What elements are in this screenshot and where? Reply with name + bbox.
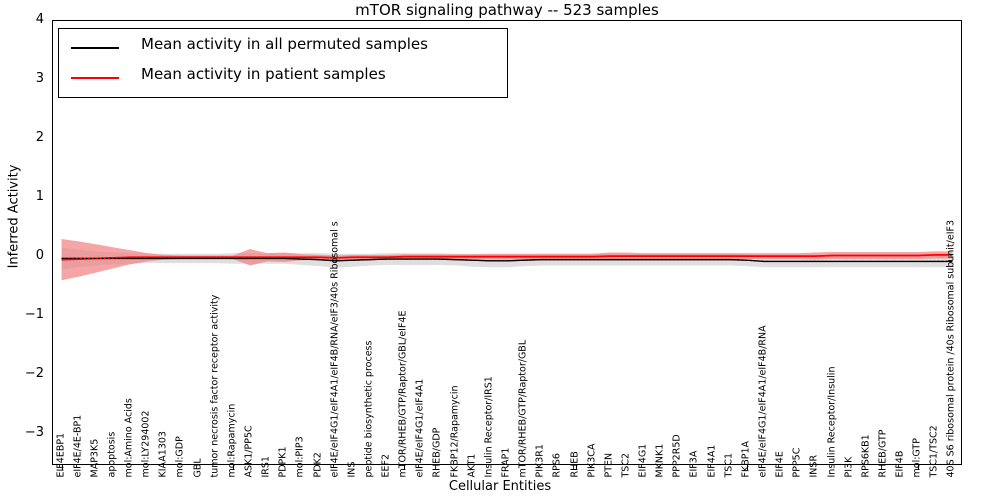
x-tick-label: PPP2R5D xyxy=(673,434,683,477)
x-tick-label: eIF4E/eIF4G1/eIF4A1/eIF4B/RNA/eIF3/40s R… xyxy=(330,221,340,477)
x-tick-label: INS xyxy=(347,462,357,478)
legend-entry: Mean activity in patient samples xyxy=(59,63,507,93)
x-tick-label: ASK1/PP5C xyxy=(245,425,255,477)
legend-swatch-permuted xyxy=(71,47,119,49)
x-tick-label: RHEB/GTP xyxy=(878,429,888,477)
x-tick-label: EIF4E xyxy=(776,451,786,477)
y-tick-label: 2 xyxy=(0,130,44,145)
legend-entry: Mean activity in all permuted samples xyxy=(59,33,507,63)
x-tick-label: PIK3CA xyxy=(587,444,597,478)
x-tick-label: RPS6KB1 xyxy=(861,434,871,477)
x-tick-label: apoptosis xyxy=(107,432,117,478)
x-tick-label: Insulin Receptor/IRS1 xyxy=(484,376,494,477)
x-tick-label: mol:GDP xyxy=(176,436,186,477)
chart-figure: mTOR signaling pathway -- 523 samples In… xyxy=(0,0,1000,500)
x-tick-label: TSC2 xyxy=(621,453,631,478)
chart-legend: Mean activity in all permuted samples Me… xyxy=(58,28,508,98)
x-tick-label: TSC1/TSC2 xyxy=(930,425,940,477)
x-tick-label: eIF4E/4E-BP1 xyxy=(73,415,83,478)
y-tick-label: 3 xyxy=(0,71,44,86)
x-tick-label: KIAA1303 xyxy=(159,431,169,477)
legend-swatch-patient xyxy=(71,77,119,79)
x-tick-label: peptide biosynthetic process xyxy=(364,341,374,478)
x-tick-label: 40S S6 ribosomal protein /40s Ribosomal … xyxy=(947,220,957,478)
x-tick-label: PDK2 xyxy=(313,452,323,477)
x-tick-label: MKNK1 xyxy=(656,444,666,478)
x-tick-label: GBL xyxy=(193,458,203,477)
y-tick-label: −1 xyxy=(0,307,44,322)
x-tick-label: INSR xyxy=(810,455,820,478)
x-tick-label: IRS1 xyxy=(262,456,272,477)
x-tick-label: tumor necrosis factor receptor activity xyxy=(210,295,220,478)
x-tick-label: mTOR/RHEB/GTP/Raptor/GBL xyxy=(519,340,529,478)
x-tick-label: PTEN xyxy=(604,453,614,478)
x-tick-label: mol:LY294002 xyxy=(142,410,152,477)
y-tick-label: 0 xyxy=(0,248,44,263)
legend-label-permuted: Mean activity in all permuted samples xyxy=(141,35,428,53)
y-tick-label: 1 xyxy=(0,189,44,204)
x-tick-label: PI3K xyxy=(844,457,854,478)
legend-label-patient: Mean activity in patient samples xyxy=(141,65,386,83)
x-tick-label: AKT1 xyxy=(467,454,477,478)
x-tick-label: EIF4G1 xyxy=(639,444,649,478)
x-tick-label: Insulin Receptor/Insulin xyxy=(827,367,837,478)
x-tick-label: TSC1 xyxy=(724,453,734,478)
x-tick-label: mol:PIP3 xyxy=(296,436,306,477)
x-tick-label: MAP3K5 xyxy=(90,439,100,478)
y-tick-label: −3 xyxy=(0,425,44,440)
x-tick-label: EIF4A1 xyxy=(707,445,717,478)
x-tick-label: EIF4B xyxy=(896,451,906,478)
y-tick-label: 4 xyxy=(0,12,44,27)
x-tick-label: mol:Rapamycin xyxy=(227,404,237,478)
x-tick-label: RHEB/GDP xyxy=(433,428,443,478)
x-tick-label: eIF4E/eIF4G1/eIF4A1/eIF4B/RNA xyxy=(758,325,768,477)
x-tick-label: mTOR/RHEB/GTP/Raptor/GBL/eIF4E xyxy=(399,311,409,478)
x-tick-label: mol:Amino Acids xyxy=(125,398,135,477)
x-tick-label: PPP5C xyxy=(793,448,803,478)
x-tick-label: FKBP12/Rapamycin xyxy=(450,385,460,477)
x-tick-label: PIK3R1 xyxy=(536,444,546,477)
x-tick-label: FKBP1A xyxy=(741,441,751,477)
x-tick-label: eIF4E/eIF4G1/eIF4A1 xyxy=(416,379,426,478)
x-tick-label: mol:GTP xyxy=(913,438,923,477)
x-tick-label: EIF4EBP1 xyxy=(56,433,66,478)
y-tick-label: −2 xyxy=(0,366,44,381)
x-tick-label: FRAP1 xyxy=(502,448,512,478)
y-axis-label: Inferred Activity xyxy=(7,7,22,427)
x-tick-label: PDPK1 xyxy=(279,446,289,477)
x-tick-label: RPS6 xyxy=(553,453,563,477)
chart-title: mTOR signaling pathway -- 523 samples xyxy=(52,1,962,19)
x-tick-label: EIF3A xyxy=(690,451,700,478)
x-axis-label: Cellular Entities xyxy=(0,479,1000,494)
x-tick-label: EEF2 xyxy=(382,454,392,478)
x-tick-label: RHEB xyxy=(570,451,580,477)
